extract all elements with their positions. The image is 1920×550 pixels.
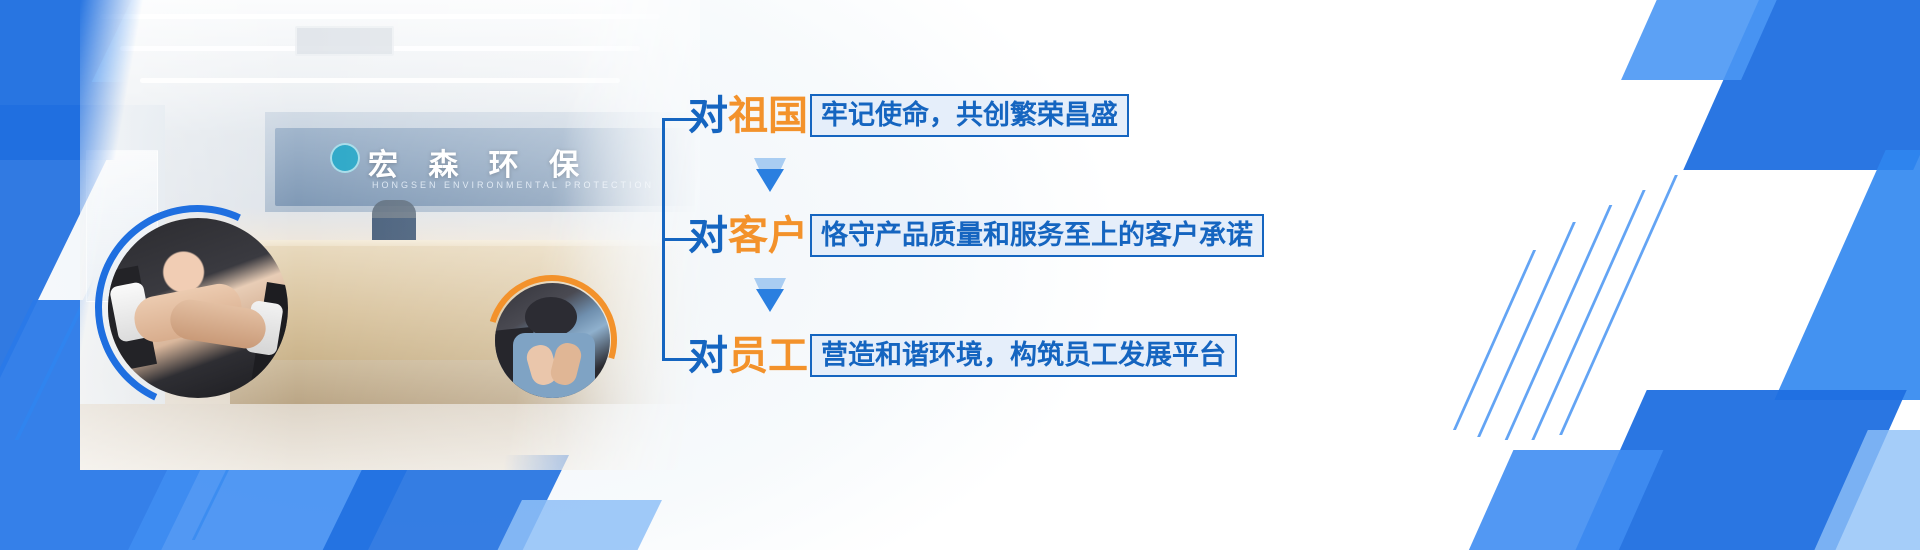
value-row-employee: 对 员工 营造和谐环境，构筑员工发展平台 xyxy=(688,334,1237,377)
values-flow: 对 祖国 牢记使命，共创繁荣昌盛 对 客户 恪守产品质量和服务至上的客户承诺 对… xyxy=(650,70,1350,400)
value-prefix-employee: 对 xyxy=(688,336,728,376)
value-prefix-customer: 对 xyxy=(688,216,728,256)
down-arrow-icon-1 xyxy=(752,158,788,192)
value-statement-country: 牢记使命，共创繁荣昌盛 xyxy=(810,94,1129,137)
value-statement-customer: 恪守产品质量和服务至上的客户承诺 xyxy=(810,214,1264,257)
arrow-top-part xyxy=(754,278,786,289)
arrow-bottom-part xyxy=(756,169,784,192)
value-target-country: 祖国 xyxy=(728,96,808,136)
arrow-top-part xyxy=(754,158,786,169)
down-arrow-icon-2 xyxy=(752,278,788,312)
value-prefix-country: 对 xyxy=(688,96,728,136)
value-target-employee: 员工 xyxy=(728,336,808,376)
value-statement-employee: 营造和谐环境，构筑员工发展平台 xyxy=(810,334,1237,377)
value-row-customer: 对 客户 恪守产品质量和服务至上的客户承诺 xyxy=(688,214,1264,257)
value-row-country: 对 祖国 牢记使命，共创繁荣昌盛 xyxy=(688,94,1129,137)
value-target-customer: 客户 xyxy=(728,216,808,256)
company-values-banner: 宏 森 环 保 HONGSEN ENVIRONMENTAL PROTECTION xyxy=(0,0,1920,550)
arrow-bottom-part xyxy=(756,289,784,312)
